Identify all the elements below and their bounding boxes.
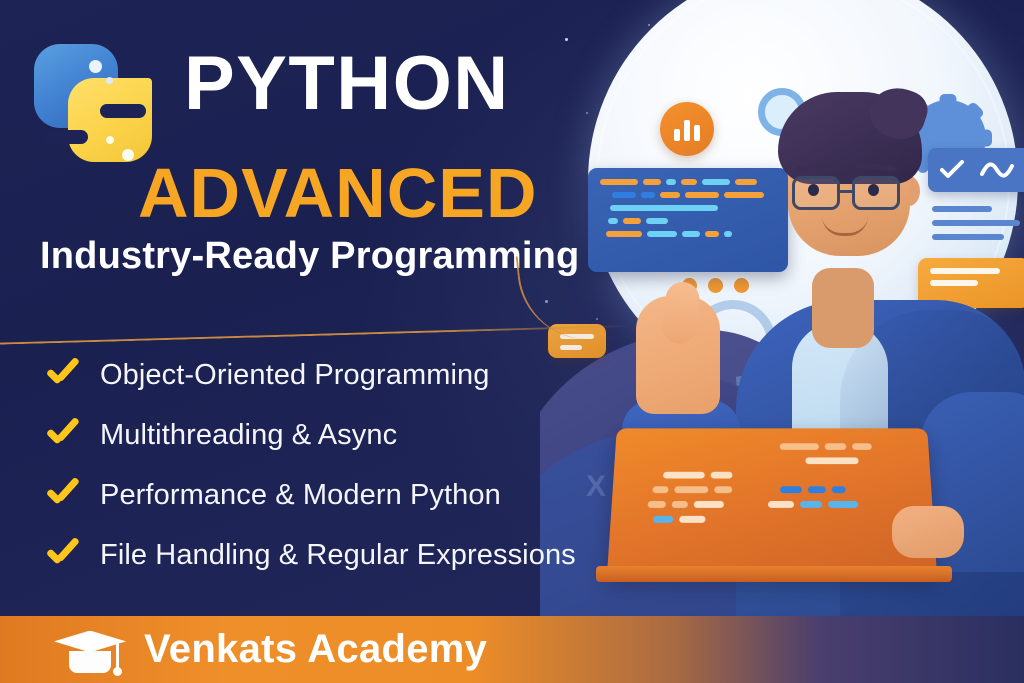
list-item: Multithreading & Async (44, 405, 584, 465)
brand-name: Venkats Academy (144, 627, 487, 672)
check-icon (44, 420, 80, 450)
person-eye-left (808, 184, 819, 196)
page-title: PYTHON (184, 46, 510, 122)
check-icon (44, 480, 80, 510)
page-subtitle: ADVANCED (138, 158, 538, 228)
promo-banner: X X (0, 0, 1024, 683)
python-logo (34, 44, 152, 162)
person-hand-right (892, 506, 964, 558)
check-curve-icon (940, 160, 966, 180)
divider-curve-end (516, 244, 645, 346)
feature-label: Multithreading & Async (100, 419, 397, 452)
feature-list: Object-Oriented Programming Multithreadi… (44, 345, 584, 585)
person-eye-right (868, 184, 879, 196)
footer-bar: Venkats Academy (0, 616, 1024, 683)
feature-label: Object-Oriented Programming (100, 359, 490, 392)
bar-chart-icon (660, 102, 714, 156)
graduation-cap-icon (54, 627, 126, 673)
text-lines-block (932, 206, 1024, 248)
chart-card (928, 148, 1024, 192)
feature-label: File Handling & Regular Expressions (100, 539, 576, 572)
laptop (607, 428, 937, 576)
check-icon (44, 540, 80, 570)
check-icon (44, 360, 80, 390)
list-item: Object-Oriented Programming (44, 345, 584, 405)
list-item: Performance & Modern Python (44, 465, 584, 525)
wave-icon (980, 160, 1014, 180)
laptop-base (596, 566, 952, 582)
feature-label: Performance & Modern Python (100, 479, 501, 512)
list-item: File Handling & Regular Expressions (44, 525, 584, 585)
person-neck (812, 268, 874, 348)
